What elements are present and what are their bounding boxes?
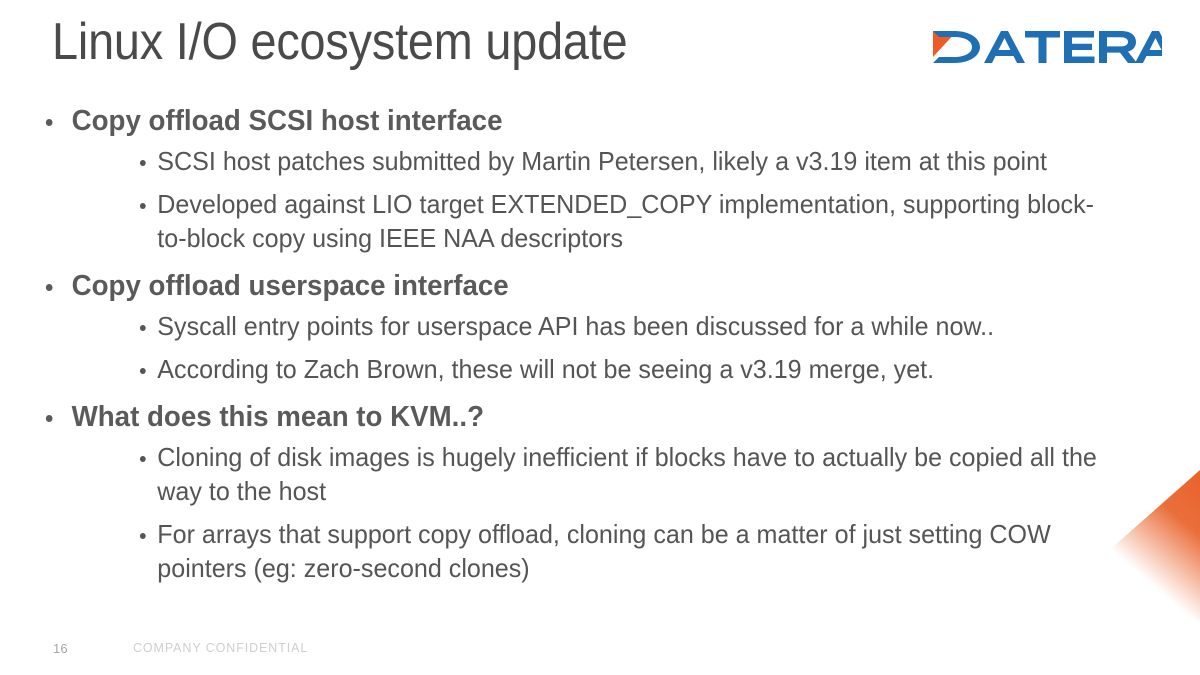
datera-logo [930,24,1162,70]
bullet-dot-icon [140,368,146,374]
bullet-dot-icon [46,284,53,291]
bullet-level2: For arrays that support copy offload, cl… [0,518,1139,586]
bullet-level2-text: Syscall entry points for userspace API h… [157,311,994,341]
bullet-level1-text: What does this mean to KVM..? [72,401,484,433]
bullet-level2: Cloning of disk images is hugely ineffic… [0,441,1139,509]
bullet-dot-icon [140,325,146,331]
page-title: Linux I/O ecosystem update [52,14,627,70]
bullet-level2-text: Developed against LIO target EXTENDED_CO… [157,189,1094,253]
bullet-level1: What does this mean to KVM..? [0,400,1127,435]
bullet-level2: According to Zach Brown, these will not … [0,353,1139,387]
bullet-dot-icon [140,203,146,209]
bullet-dot-icon [46,119,53,126]
bullet-level1: Copy offload userspace interface [0,269,1127,304]
bullet-level2: Syscall entry points for userspace API h… [0,310,1139,344]
confidentiality-notice: COMPANY CONFIDENTIAL [133,641,308,655]
slide-body: Copy offload SCSI host interface SCSI ho… [0,104,1180,585]
bullet-dot-icon [46,415,53,422]
bullet-level1: Copy offload SCSI host interface [0,104,1127,139]
presentation-slide: Linux I/O ecosystem update Copy offload … [0,0,1200,675]
bullet-level2-text: SCSI host patches submitted by Martin Pe… [157,146,1047,176]
bullet-dot-icon [140,533,146,539]
bullet-level1-text: Copy offload userspace interface [72,270,509,302]
bullet-level2: SCSI host patches submitted by Martin Pe… [0,145,1139,179]
bullet-level1-text: Copy offload SCSI host interface [72,105,503,137]
bullet-dot-icon [140,456,146,462]
slide-number: 16 [53,641,68,656]
bullet-level2-text: According to Zach Brown, these will not … [157,354,934,384]
bullet-level2-text: For arrays that support copy offload, cl… [157,519,1050,583]
bullet-level2-text: Cloning of disk images is hugely ineffic… [157,442,1097,506]
bullet-level2: Developed against LIO target EXTENDED_CO… [0,188,1139,256]
bullet-dot-icon [140,160,146,166]
